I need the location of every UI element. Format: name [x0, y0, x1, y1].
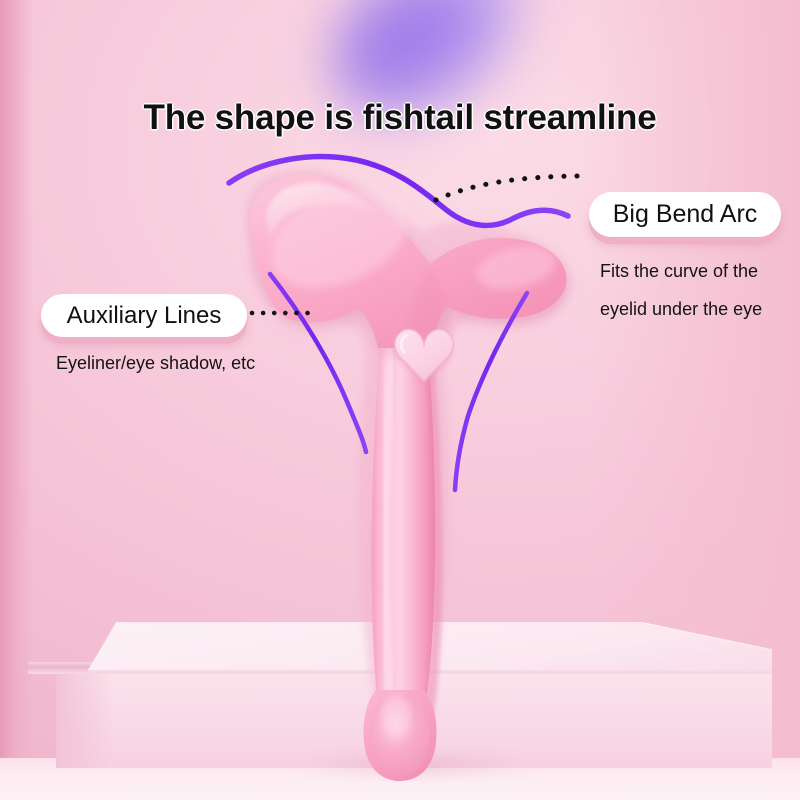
label-auxiliary-lines-text: Auxiliary Lines [67, 302, 222, 330]
page-title: The shape is fishtail streamline [0, 98, 800, 138]
label-auxiliary-lines: Auxiliary Lines [41, 294, 247, 337]
infographic-canvas: The shape is fishtail streamline Big Ben… [0, 0, 800, 800]
label-big-bend-arc: Big Bend Arc [589, 192, 781, 237]
caption-auxiliary-lines: Eyeliner/eye shadow, etc [56, 352, 336, 374]
purple-curve-top-wave [229, 157, 568, 226]
leader-dotted-big-bend [436, 176, 584, 200]
caption-big-bend-arc: Fits the curve of the eyelid under the e… [600, 252, 800, 328]
label-big-bend-arc-text: Big Bend Arc [613, 200, 758, 229]
purple-curve-right [455, 293, 527, 490]
